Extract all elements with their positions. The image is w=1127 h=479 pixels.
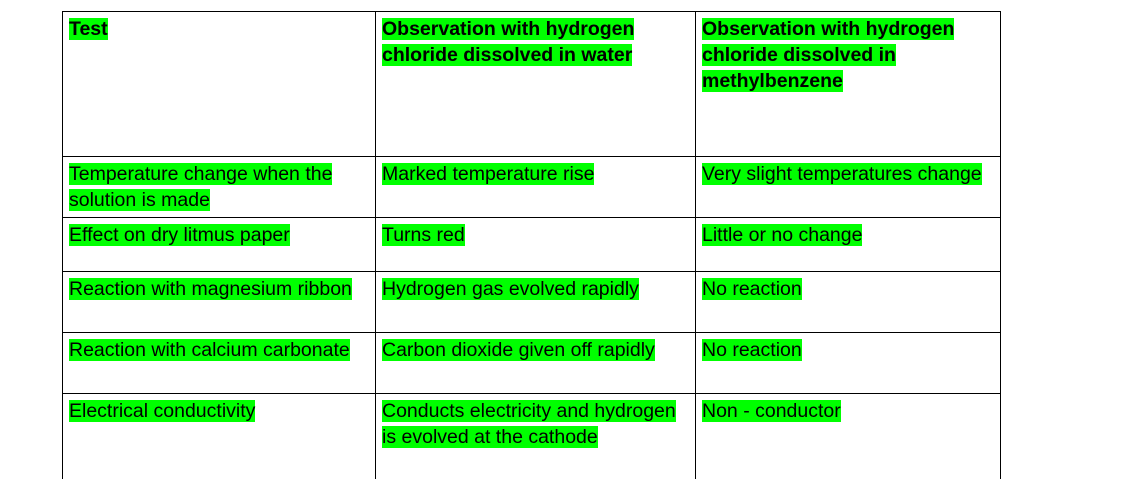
cell-text: Carbon dioxide given off rapidly: [382, 339, 655, 361]
cell-water-1: Turns red: [376, 218, 696, 272]
cell-methylbenzene-4: Non - conductor: [696, 394, 1001, 479]
cell-water-4: Conducts electricity and hydrogen is evo…: [376, 394, 696, 479]
table-header-cell-methylbenzene: Observation with hydrogen chloride disso…: [696, 12, 1001, 157]
cell-text: Electrical conductivity: [69, 400, 255, 422]
cell-text: No reaction: [702, 339, 802, 361]
cell-methylbenzene-1: Little or no change: [696, 218, 1001, 272]
cell-water-0: Marked temperature rise: [376, 157, 696, 218]
cell-text: Marked temperature rise: [382, 163, 594, 185]
table-row: Electrical conductivity Conducts electri…: [63, 394, 1001, 479]
cell-text: Hydrogen gas evolved rapidly: [382, 278, 639, 300]
page-canvas: Test Observation with hydrogen chloride …: [0, 0, 1127, 479]
cell-water-3: Carbon dioxide given off rapidly: [376, 333, 696, 394]
table-row: Effect on dry litmus paper Turns red Lit…: [63, 218, 1001, 272]
table-row: Reaction with calcium carbonate Carbon d…: [63, 333, 1001, 394]
cell-methylbenzene-0: Very slight temperatures change: [696, 157, 1001, 218]
cell-methylbenzene-2: No reaction: [696, 272, 1001, 333]
cell-text: Turns red: [382, 224, 465, 246]
cell-text: Very slight temperatures change: [702, 163, 982, 185]
cell-water-2: Hydrogen gas evolved rapidly: [376, 272, 696, 333]
table-header-cell-test: Test: [63, 12, 376, 157]
header-label-methylbenzene: Observation with hydrogen chloride disso…: [702, 18, 954, 92]
comparison-table-container: Test Observation with hydrogen chloride …: [62, 11, 1000, 479]
header-label-water: Observation with hydrogen chloride disso…: [382, 18, 634, 66]
cell-test-3: Reaction with calcium carbonate: [63, 333, 376, 394]
cell-test-0: Temperature change when the solution is …: [63, 157, 376, 218]
hydrogen-chloride-comparison-table: Test Observation with hydrogen chloride …: [62, 11, 1001, 479]
cell-text: Non - conductor: [702, 400, 841, 422]
cell-test-4: Electrical conductivity: [63, 394, 376, 479]
cell-text: Conducts electricity and hydrogen is evo…: [382, 400, 676, 448]
table-header-cell-water: Observation with hydrogen chloride disso…: [376, 12, 696, 157]
cell-text: Temperature change when the solution is …: [69, 163, 332, 211]
cell-text: No reaction: [702, 278, 802, 300]
table-row: Temperature change when the solution is …: [63, 157, 1001, 218]
table-row: Reaction with magnesium ribbon Hydrogen …: [63, 272, 1001, 333]
cell-test-1: Effect on dry litmus paper: [63, 218, 376, 272]
header-label-test: Test: [69, 18, 108, 40]
cell-methylbenzene-3: No reaction: [696, 333, 1001, 394]
table-header-row: Test Observation with hydrogen chloride …: [63, 12, 1001, 157]
cell-text: Effect on dry litmus paper: [69, 224, 290, 246]
cell-text: Reaction with calcium carbonate: [69, 339, 350, 361]
cell-test-2: Reaction with magnesium ribbon: [63, 272, 376, 333]
cell-text: Little or no change: [702, 224, 862, 246]
cell-text: Reaction with magnesium ribbon: [69, 278, 352, 300]
